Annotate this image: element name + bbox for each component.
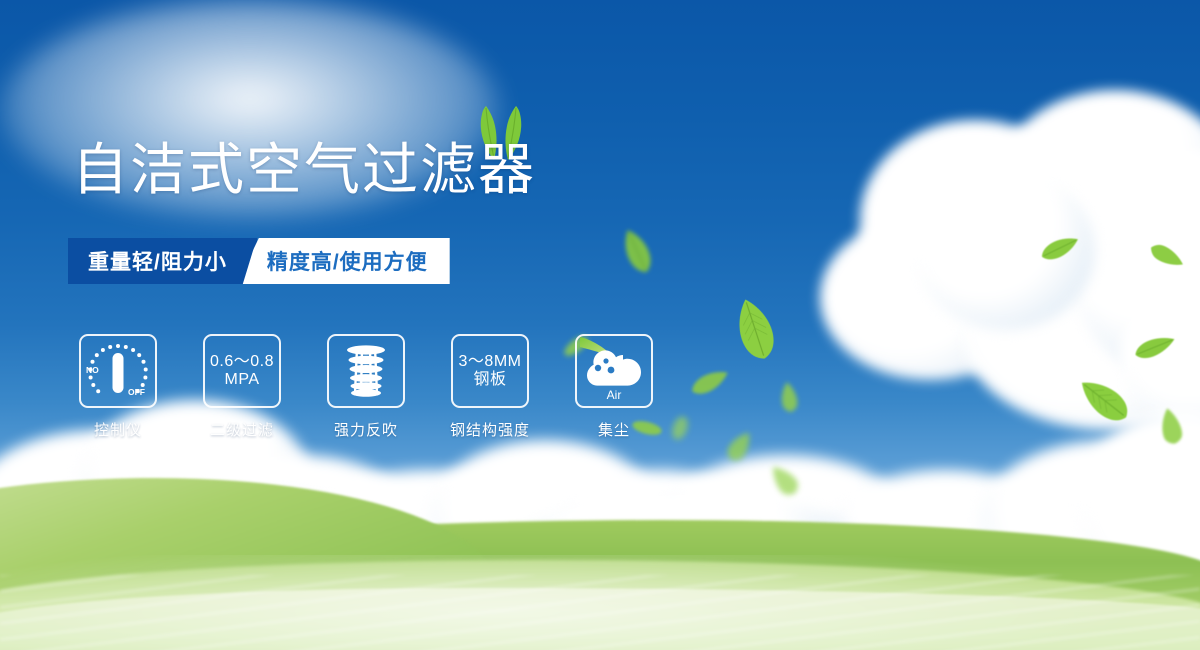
steel-thickness: 3～8MM [459, 353, 522, 371]
feature-icon-row: NO OFF 控制仪 0.6～0.8 MPA 二级过滤 [70, 334, 662, 440]
cloud-air-icon: Air [575, 334, 653, 408]
pressure-range: 0.6～0.8 [210, 353, 274, 371]
gauge-no-label: NO [86, 365, 99, 375]
tagline-left: 重量轻/阻力小 [68, 238, 257, 284]
pressure-value-icon: 0.6～0.8 MPA [203, 334, 281, 408]
tagline-badge: 重量轻/阻力小 精度高/使用方便 [68, 238, 450, 284]
cloud-air-label: Air [607, 388, 622, 402]
feature-item-steel-strength[interactable]: 3～8MM 钢板 钢结构强度 [442, 334, 538, 440]
feature-item-controller[interactable]: NO OFF 控制仪 [70, 334, 166, 440]
feature-label: 控制仪 [94, 419, 142, 440]
gauge-off-label: OFF [128, 387, 145, 397]
feature-item-two-stage-filter[interactable]: 0.6～0.8 MPA 二级过滤 [194, 334, 290, 440]
tagline-right: 精度高/使用方便 [237, 238, 450, 284]
grass-light-glow [0, 555, 1200, 650]
page-title: 自洁式空气过滤器 [72, 142, 536, 198]
feature-label: 集尘 [598, 419, 630, 440]
feature-item-dust-collection[interactable]: Air 集尘 [566, 334, 662, 440]
steel-plate-icon: 3～8MM 钢板 [451, 334, 529, 408]
pressure-unit: MPA [210, 371, 274, 389]
feature-label: 强力反吹 [334, 419, 398, 440]
cumulus-cloud-right [820, 110, 1200, 440]
feature-label: 二级过滤 [210, 419, 274, 440]
feature-label: 钢结构强度 [450, 419, 530, 440]
gauge-dial-icon: NO OFF [79, 334, 157, 408]
product-hero-banner: 自洁式空气过滤器 重量轻/阻力小 精度高/使用方便 [0, 0, 1200, 650]
filter-cartridge-icon [327, 334, 405, 408]
steel-material: 钢板 [459, 371, 522, 389]
feature-item-strong-backblow[interactable]: 强力反吹 [318, 334, 414, 440]
